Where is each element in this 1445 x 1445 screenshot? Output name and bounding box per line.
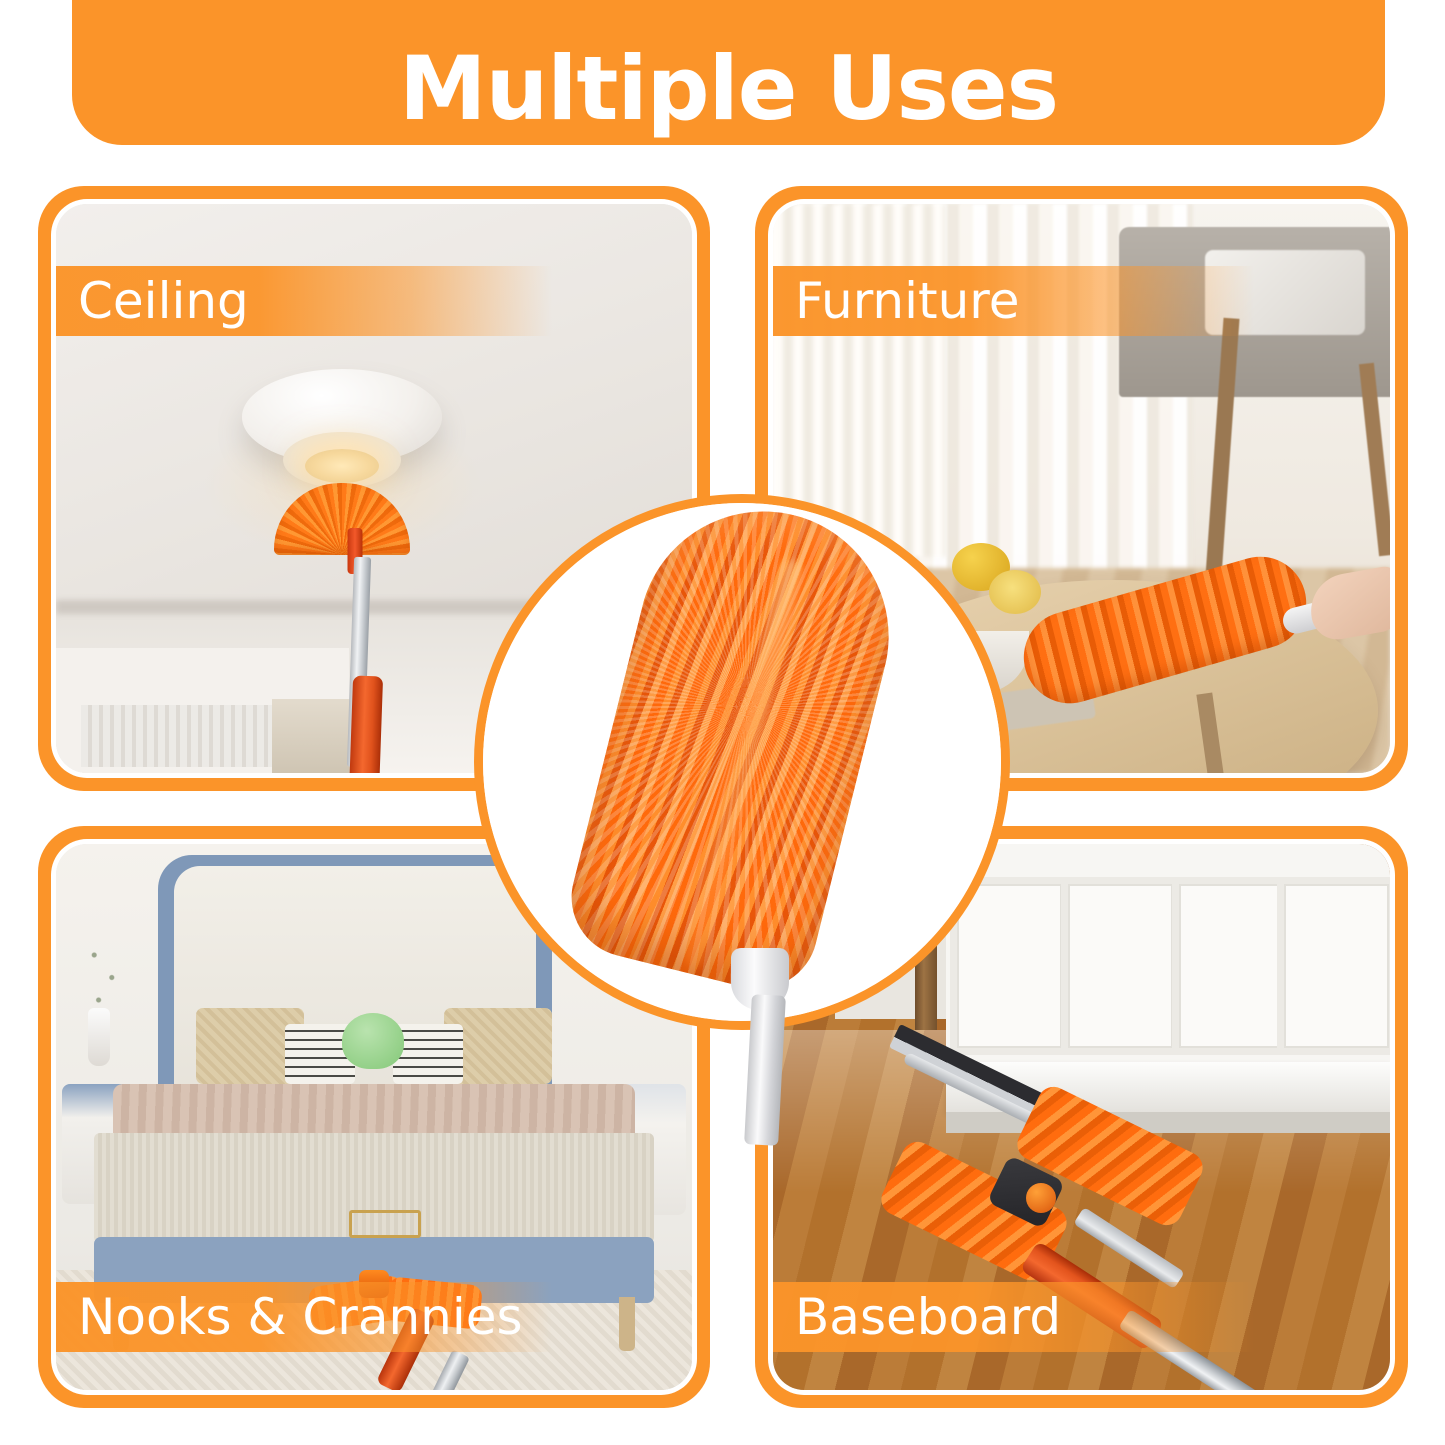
pivot-knob [1026,1183,1056,1213]
card-label-band: Ceiling [56,266,692,336]
cabinet-panel [1172,877,1291,1055]
cabinet-panel [1277,877,1390,1055]
page-title: Multiple Uses [399,45,1058,133]
drawer-pull [349,1210,421,1238]
card-label-band: Furniture [773,266,1390,336]
slat-panel [81,705,272,768]
orange-grip-handle [349,676,383,773]
card-label-nooks-crannies: Nooks & Crannies [56,1292,523,1342]
card-label-furniture: Furniture [773,276,1020,326]
center-product-circle[interactable] [474,494,1010,1030]
card-label-band: Baseboard [773,1282,1390,1352]
header-banner: Multiple Uses [72,0,1385,145]
vase [88,1008,110,1066]
plaid-cushion-right [393,1024,463,1084]
card-label-baseboard: Baseboard [773,1292,1061,1342]
green-plush-toy [342,1013,404,1069]
cabinet-panel [1061,877,1180,1055]
light-bulb [305,449,379,483]
card-label-band: Nooks & Crannies [56,1282,692,1352]
lemon-half [989,570,1041,614]
card-label-ceiling: Ceiling [56,276,249,326]
hero-clip [483,503,1001,1021]
